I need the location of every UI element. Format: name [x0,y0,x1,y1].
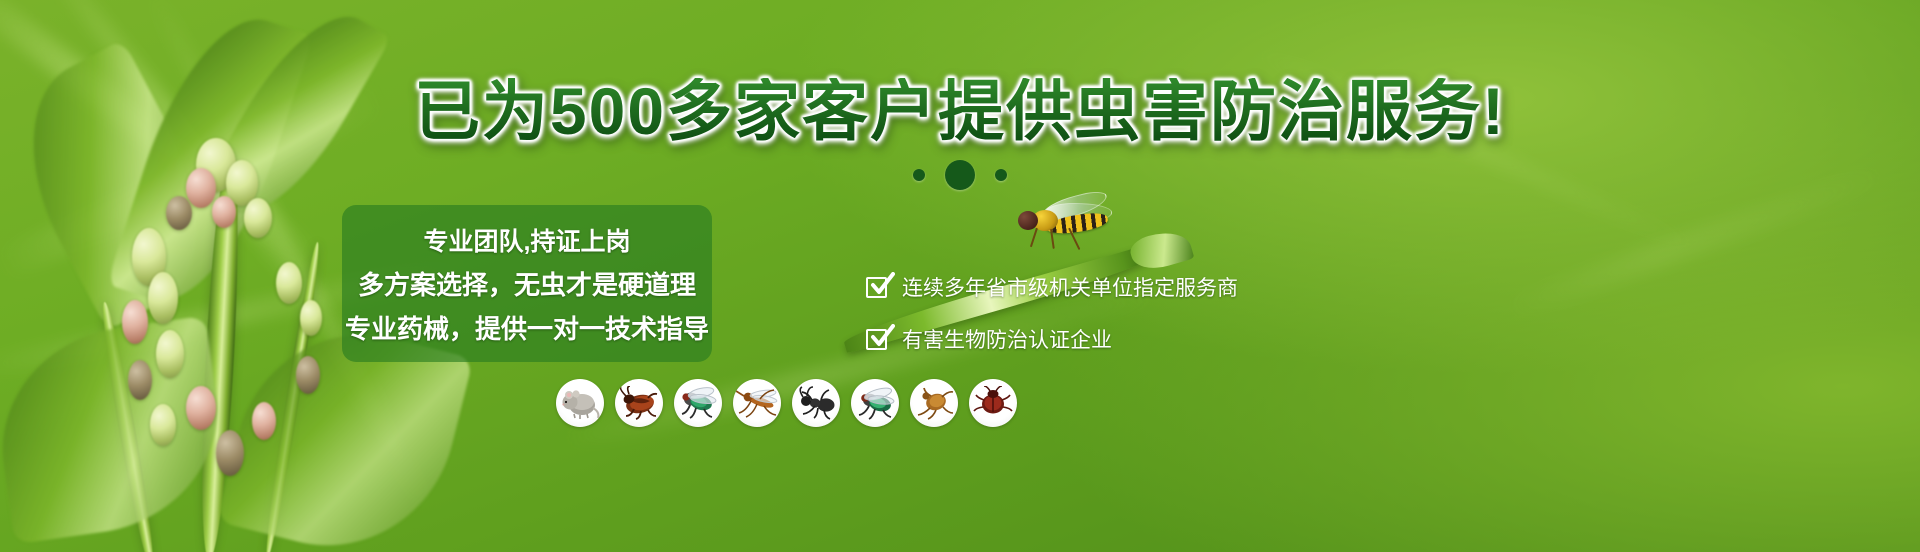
decorative-dot-large-center [945,160,975,190]
list-item: 连续多年省市级机关单位指定服务商 [866,272,1238,302]
flower-bud [150,404,176,446]
hoverfly-icon [1010,197,1120,249]
selling-points-panel: 专业团队,持证上岗 多方案选择，无虫才是硬道理 专业药械，提供一对一技术指导 [342,205,712,362]
checkbox-tick [869,272,895,298]
cockroach-icon[interactable] [615,379,663,427]
flower-bud [276,262,302,304]
flower-bud [128,360,152,400]
flower-bud [212,196,236,228]
hoverfly-leg [1030,228,1038,248]
credential-label: 连续多年省市级机关单位指定服务商 [902,272,1238,302]
flower-bud [216,430,244,476]
leaf-shape [0,316,233,545]
flower-bud [244,198,272,238]
flower-bud [148,272,178,324]
selling-point-line: 专业药械，提供一对一技术指导 [345,309,709,346]
leaf-sprig-tip [1127,226,1194,275]
checkbox-tick [869,324,895,350]
flower-bud [156,330,184,378]
bedbug-icon[interactable] [969,379,1017,427]
decorative-dots [0,160,1920,190]
flower-bud [296,356,320,394]
credentials-list: 连续多年省市级机关单位指定服务商 有害生物防治认证企业 [866,272,1238,354]
flower-bud [166,196,192,230]
decorative-dot-small-right [995,169,1007,181]
selling-point-line: 专业团队,持证上岗 [424,222,631,258]
selling-point-line: 多方案选择，无虫才是硬道理 [358,265,696,302]
flea-icon[interactable] [910,379,958,427]
ant-icon[interactable] [792,379,840,427]
mouse-icon[interactable] [556,379,604,427]
pest-types-row [556,379,1017,427]
mosquito-icon[interactable] [733,379,781,427]
flower-bud [122,300,148,344]
flower-bud [300,300,322,336]
fly-icon[interactable] [674,379,722,427]
decorative-dot-small-left [913,169,925,181]
page-title: 已为500多家客户提供虫害防治服务! [0,78,1920,144]
blowfly-icon[interactable] [851,379,899,427]
flower-bud [252,402,276,440]
checkbox-checked-icon [866,275,890,299]
checkbox-checked-icon [866,327,890,351]
list-item: 有害生物防治认证企业 [866,324,1238,354]
credential-label: 有害生物防治认证企业 [902,324,1112,354]
flower-bud [186,386,216,430]
